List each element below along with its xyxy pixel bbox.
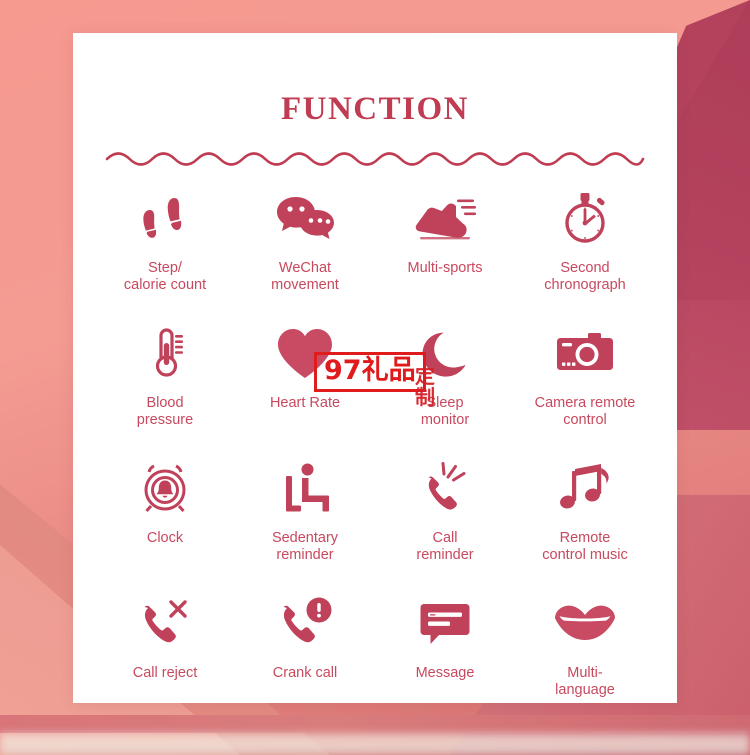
feature-item-sedentary-reminder[interactable]: Sedentary reminder bbox=[235, 460, 375, 583]
feature-item-step-calorie-count[interactable]: Step/ calorie count bbox=[95, 190, 235, 313]
feature-item-second-chronograph[interactable]: Second chronograph bbox=[515, 190, 655, 313]
music-notes-icon bbox=[557, 460, 613, 518]
feature-item-remote-control-music[interactable]: Remote control music bbox=[515, 460, 655, 583]
wavy-divider-icon bbox=[105, 146, 645, 168]
feature-item-label: Clock bbox=[147, 530, 183, 547]
feature-item-label: Multi- language bbox=[555, 665, 615, 698]
feature-item-crank-call[interactable]: Crank call bbox=[235, 595, 375, 718]
wechat-chat-bubbles-icon bbox=[274, 190, 336, 248]
sitting-person-icon bbox=[278, 460, 332, 518]
page-root: FUNCTION Step/ calorie coun bbox=[0, 0, 750, 755]
feature-item-label: Blood pressure bbox=[137, 395, 193, 428]
crescent-moon-icon bbox=[420, 325, 470, 383]
lips-icon bbox=[553, 595, 617, 653]
feature-item-blood-pressure[interactable]: Blood pressure bbox=[95, 325, 235, 448]
footprints-icon bbox=[137, 190, 193, 248]
feature-item-label: WeChat movement bbox=[271, 260, 339, 293]
feature-item-label: Sleep monitor bbox=[421, 395, 469, 428]
feature-item-call-reminder[interactable]: Call reminder bbox=[375, 460, 515, 583]
feature-item-label: Call reminder bbox=[416, 530, 473, 563]
feature-item-camera-remote-control[interactable]: Camera remote control bbox=[515, 325, 655, 448]
camera-icon bbox=[554, 325, 616, 383]
phone-alert-icon bbox=[276, 595, 334, 653]
feature-item-wechat-movement[interactable]: WeChat movement bbox=[235, 190, 375, 313]
feature-item-multi-language[interactable]: Multi- language bbox=[515, 595, 655, 718]
feature-item-label: Multi-sports bbox=[408, 260, 483, 277]
feature-item-label: Camera remote control bbox=[535, 395, 636, 428]
feature-item-label: Message bbox=[416, 665, 475, 682]
feature-item-multi-sports[interactable]: Multi-sports bbox=[375, 190, 515, 313]
feature-item-label: Second chronograph bbox=[544, 260, 625, 293]
heart-icon bbox=[274, 325, 336, 383]
feature-grid: Step/ calorie count bbox=[95, 190, 655, 718]
page-title: FUNCTION bbox=[73, 91, 677, 128]
feature-card: FUNCTION Step/ calorie coun bbox=[73, 33, 677, 703]
feature-item-call-reject[interactable]: Call reject bbox=[95, 595, 235, 718]
stopwatch-icon bbox=[557, 190, 613, 248]
feature-item-label: Sedentary reminder bbox=[272, 530, 338, 563]
phone-reject-icon bbox=[137, 595, 193, 653]
feature-item-clock[interactable]: Clock bbox=[95, 460, 235, 583]
message-bubble-icon bbox=[418, 595, 472, 653]
feature-item-label: Heart Rate bbox=[270, 395, 340, 412]
feature-item-label: Crank call bbox=[273, 665, 337, 682]
alarm-clock-icon bbox=[137, 460, 193, 518]
feature-item-label: Call reject bbox=[133, 665, 197, 682]
feature-item-label: Remote control music bbox=[542, 530, 627, 563]
phone-ringing-icon bbox=[417, 460, 473, 518]
feature-item-sleep-monitor[interactable]: Sleep monitor bbox=[375, 325, 515, 448]
feature-item-message[interactable]: Message bbox=[375, 595, 515, 718]
feature-item-heart-rate[interactable]: Heart Rate bbox=[235, 325, 375, 448]
running-shoe-icon bbox=[412, 190, 478, 248]
bottom-blur-strip bbox=[0, 733, 750, 755]
thermometer-icon bbox=[142, 325, 188, 383]
feature-item-label: Step/ calorie count bbox=[124, 260, 206, 293]
